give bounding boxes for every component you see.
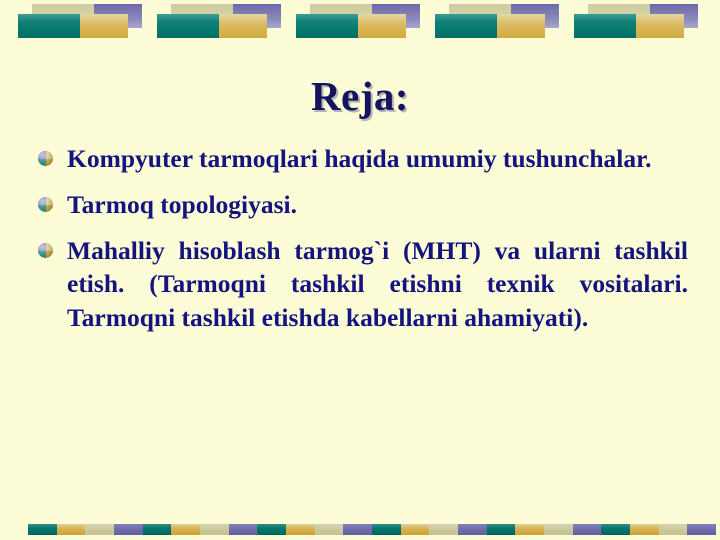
presentation-slide: Reja: Kompyuter tarmoqlari haqida umumiy… [0,0,720,540]
list-item-text: Kompyuter tarmoqlari haqida umumiy tushu… [67,142,688,175]
list-item: Mahalliy hisoblash tarmog`i (MHT) va ula… [38,234,688,333]
decorative-purple-segment [114,524,143,535]
decorative-purple-segment [573,524,602,535]
top-decorative-band [0,0,720,48]
decorative-teal-segment [143,524,172,535]
bullet-gloss [38,151,53,166]
bottom-decorative-strip [28,524,716,535]
decorative-block [574,4,698,38]
decorative-gold-panel [219,14,267,38]
decorative-gold-segment [630,524,659,535]
decorative-teal-segment [372,524,401,535]
decorative-purple-segment [229,524,258,535]
decorative-block [435,4,559,38]
decorative-purple-segment [343,524,372,535]
bullet-list: Kompyuter tarmoqlari haqida umumiy tushu… [38,142,688,347]
decorative-khaki-segment [429,524,458,535]
decorative-khaki-segment [315,524,344,535]
decorative-purple-segment [458,524,487,535]
decorative-block [296,4,420,38]
decorative-khaki-segment [85,524,114,535]
decorative-block-front [435,14,545,38]
decorative-block-front [296,14,406,38]
list-item: Tarmoq topologiyasi. [38,188,688,221]
decorative-block-front [18,14,128,38]
decorative-gold-segment [57,524,86,535]
decorative-teal-panel [296,14,358,38]
decorative-block-front [157,14,267,38]
list-item-text: Tarmoq topologiyasi. [67,188,688,221]
decorative-gold-segment [515,524,544,535]
decorative-gold-segment [286,524,315,535]
decorative-purple-segment [687,524,716,535]
decorative-teal-panel [18,14,80,38]
decorative-teal-segment [487,524,516,535]
decorative-gold-panel [497,14,545,38]
list-item: Kompyuter tarmoqlari haqida umumiy tushu… [38,142,688,175]
decorative-gold-panel [636,14,684,38]
decorative-block [157,4,281,38]
bottom-decorative-band [0,520,720,540]
decorative-teal-segment [601,524,630,535]
decorative-teal-panel [157,14,219,38]
decorative-khaki-segment [200,524,229,535]
decorative-teal-segment [257,524,286,535]
decorative-block [18,4,142,38]
decorative-teal-panel [574,14,636,38]
decorative-khaki-segment [544,524,573,535]
decorative-gold-panel [80,14,128,38]
list-item-text: Mahalliy hisoblash tarmog`i (MHT) va ula… [67,234,688,333]
sphere-bullet-icon [38,243,53,258]
decorative-block-front [574,14,684,38]
decorative-khaki-segment [659,524,688,535]
decorative-gold-panel [358,14,406,38]
sphere-bullet-icon [38,151,53,166]
sphere-bullet-icon [38,197,53,212]
decorative-teal-panel [435,14,497,38]
decorative-gold-segment [171,524,200,535]
decorative-teal-segment [28,524,57,535]
decorative-gold-segment [401,524,430,535]
slide-title: Reja: [0,72,720,120]
